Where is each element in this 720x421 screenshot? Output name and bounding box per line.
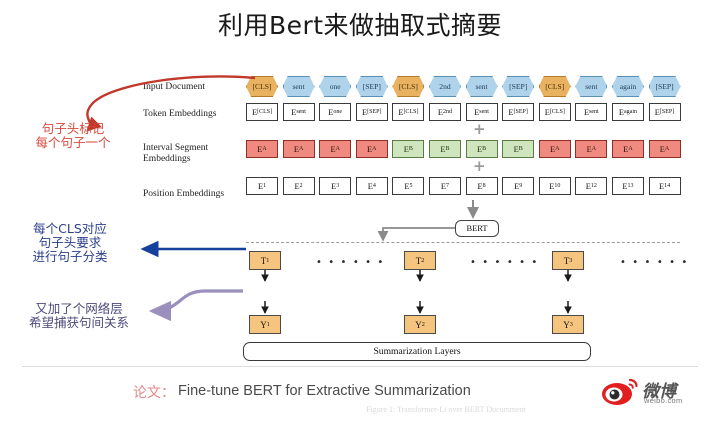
input-token-3: one xyxy=(319,76,351,97)
y-node-2: Y2 xyxy=(404,315,436,334)
annotation-red-line-2: 每个句子一个 xyxy=(8,136,138,150)
posemb-cell-8-sub: 9 xyxy=(519,183,522,189)
segemb-cell-8: EB xyxy=(502,140,534,158)
tokemb-cell-2-sub: sent xyxy=(296,109,306,115)
segemb-cell-10: EA xyxy=(575,140,607,158)
posemb-cell-7-sub: 8 xyxy=(483,183,486,189)
segemb-cell-4: EA xyxy=(356,140,388,158)
segemb-cell-8-sub: B xyxy=(519,146,523,152)
segemb-cell-10-sub: A xyxy=(592,146,596,152)
slide-root: 利用Bert来做抽取式摘要 Input Document Token Embed… xyxy=(0,0,720,421)
input-token-8: [SEP] xyxy=(502,76,534,97)
posemb-cell-1-sub: 1 xyxy=(263,183,266,189)
input-token-6: 2nd xyxy=(429,76,461,97)
tokemb-cell-7-sub: sent xyxy=(479,109,489,115)
posemb-cell-12-sub: 14 xyxy=(664,183,670,189)
segemb-cell-12: EA xyxy=(649,140,681,158)
interval-segment-line-2: Embeddings xyxy=(143,154,191,164)
row-label-position-embeddings: Position Embeddings xyxy=(143,189,224,200)
tokemb-cell-4-sub: [SEP] xyxy=(367,109,381,115)
segemb-cell-2: EA xyxy=(283,140,315,158)
segemb-cell-9-sub: A xyxy=(555,146,559,152)
tokemb-cell-6-sub: 2nd xyxy=(443,109,452,115)
input-token-4: [SEP] xyxy=(356,76,388,97)
segemb-cell-5-sub: B xyxy=(409,146,413,152)
annotation-purple: 又加了个网络层 希望捕获句间关系 xyxy=(4,302,154,330)
input-token-row: [CLS]sentone[SEP][CLS]2ndsent[SEP][CLS]s… xyxy=(246,76,681,97)
posemb-cell-2: E2 xyxy=(283,177,315,195)
input-token-7: sent xyxy=(466,76,498,97)
tokemb-cell-9-sub: [CLS] xyxy=(550,109,565,115)
ellipsis-1: • • • • • • xyxy=(316,258,385,268)
row-label-input-document: Input Document xyxy=(143,82,205,93)
bert-output-divider xyxy=(246,242,680,243)
t-node-1-sub: 1 xyxy=(266,257,269,264)
tokemb-cell-7: Esent xyxy=(466,103,498,121)
posemb-cell-10-sub: 12 xyxy=(591,183,597,189)
tokemb-cell-9: E[CLS] xyxy=(539,103,571,121)
tokemb-cell-11-sub: again xyxy=(624,109,637,115)
ellipsis-3: • • • • • • xyxy=(620,258,689,268)
segemb-cell-5: EB xyxy=(392,140,424,158)
y-node-3: Y3 xyxy=(552,315,584,334)
posemb-cell-8: E9 xyxy=(502,177,534,195)
posemb-cell-2-sub: 2 xyxy=(300,183,303,189)
tokemb-cell-1: E[CLS] xyxy=(246,103,278,121)
position-embedding-row: E1E2E3E4E5E7E8E9E10E12E13E14 xyxy=(246,177,681,195)
tokemb-cell-8: E[SEP] xyxy=(502,103,534,121)
segemb-cell-7-sub: B xyxy=(482,146,486,152)
interval-segment-line-1: Interval Segment xyxy=(143,143,208,153)
posemb-cell-3-sub: 3 xyxy=(336,183,339,189)
tokemb-cell-12-sub: [SEP] xyxy=(660,109,674,115)
annotation-purple-line-2: 希望捕获句间关系 xyxy=(4,316,154,330)
input-token-11: again xyxy=(612,76,644,97)
t-node-3: T3 xyxy=(552,251,584,270)
tokemb-cell-4: E[SEP] xyxy=(356,103,388,121)
posemb-cell-5: E5 xyxy=(392,177,424,195)
tokemb-cell-3-sub: one xyxy=(333,109,342,115)
weibo-domain: weibo.com xyxy=(644,396,683,405)
posemb-cell-3: E3 xyxy=(319,177,351,195)
segemb-cell-9: EA xyxy=(539,140,571,158)
annotation-blue-line-2: 句子头要求 xyxy=(4,236,136,250)
posemb-cell-11-sub: 13 xyxy=(628,183,634,189)
segemb-cell-4-sub: A xyxy=(372,146,376,152)
y-node-3-sub: 3 xyxy=(570,321,573,328)
posemb-cell-6: E7 xyxy=(429,177,461,195)
posemb-cell-5-sub: 5 xyxy=(409,183,412,189)
tokemb-cell-6: E2nd xyxy=(429,103,461,121)
annotation-red-line-1: 句子头标记 xyxy=(8,122,138,136)
annotation-blue: 每个CLS对应 句子头要求 进行句子分类 xyxy=(4,222,136,264)
footer-divider xyxy=(22,366,698,367)
annotation-red: 句子头标记 每个句子一个 xyxy=(8,122,138,150)
tokemb-cell-5: E[CLS] xyxy=(392,103,424,121)
input-token-9: [CLS] xyxy=(539,76,571,97)
segemb-cell-11: EA xyxy=(612,140,644,158)
posemb-cell-4-sub: 4 xyxy=(373,183,376,189)
posemb-cell-9-sub: 10 xyxy=(554,183,560,189)
y-node-1-sub: 1 xyxy=(267,321,270,328)
input-token-1: [CLS] xyxy=(246,76,278,97)
footer: 论文： Fine-tune BERT for Extractive Summar… xyxy=(0,382,720,412)
page-title: 利用Bert来做抽取式摘要 xyxy=(0,6,720,42)
posemb-cell-7: E8 xyxy=(466,177,498,195)
bert-box: BERT xyxy=(455,220,499,237)
input-token-2: sent xyxy=(283,76,315,97)
segemb-cell-6-sub: B xyxy=(446,146,450,152)
tokemb-cell-10: Esent xyxy=(575,103,607,121)
segemb-cell-1: EA xyxy=(246,140,278,158)
plus-sign-2: + xyxy=(473,159,486,174)
input-token-10: sent xyxy=(575,76,607,97)
tokemb-cell-8-sub: [SEP] xyxy=(514,109,528,115)
input-token-5: [CLS] xyxy=(392,76,424,97)
segemb-cell-12-sub: A xyxy=(665,146,669,152)
ellipsis-2: • • • • • • xyxy=(470,258,539,268)
segemb-cell-3-sub: A xyxy=(336,146,340,152)
t-node-1: T1 xyxy=(249,251,281,270)
t-node-2-sub: 2 xyxy=(421,257,424,264)
tokemb-cell-10-sub: sent xyxy=(589,109,599,115)
y-node-2-sub: 2 xyxy=(422,321,425,328)
segemb-cell-7: EB xyxy=(466,140,498,158)
summarization-layers-box: Summarization Layers xyxy=(243,342,591,361)
tokemb-cell-2: Esent xyxy=(283,103,315,121)
posemb-cell-4: E4 xyxy=(356,177,388,195)
segemb-cell-11-sub: A xyxy=(628,146,632,152)
tokemb-cell-1-sub: [CLS] xyxy=(257,109,272,115)
tokemb-cell-11: Eagain xyxy=(612,103,644,121)
token-embedding-row: E[CLS]EsentEoneE[SEP]E[CLS]E2ndEsentE[SE… xyxy=(246,103,681,121)
posemb-cell-11: E13 xyxy=(612,177,644,195)
posemb-cell-6-sub: 7 xyxy=(446,183,449,189)
plus-sign-1: + xyxy=(473,122,486,137)
segemb-cell-1-sub: A xyxy=(262,146,266,152)
input-token-12: [SEP] xyxy=(649,76,681,97)
tokemb-cell-5-sub: [CLS] xyxy=(403,109,418,115)
segemb-cell-2-sub: A xyxy=(299,146,303,152)
paper-title: Fine-tune BERT for Extractive Summarizat… xyxy=(178,383,471,399)
t-node-2: T2 xyxy=(404,251,436,270)
segemb-cell-3: EA xyxy=(319,140,351,158)
weibo-eye-icon xyxy=(600,376,640,408)
t-node-3-sub: 3 xyxy=(569,257,572,264)
segemb-cell-6: EB xyxy=(429,140,461,158)
paper-label: 论文： xyxy=(133,382,175,402)
posemb-cell-9: E10 xyxy=(539,177,571,195)
row-label-interval-segment-embeddings: Interval Segment Embeddings xyxy=(143,143,208,165)
weibo-logo: 微博 weibo.com xyxy=(600,376,712,412)
tokemb-cell-3: Eone xyxy=(319,103,351,121)
posemb-cell-1: E1 xyxy=(246,177,278,195)
annotation-blue-line-1: 每个CLS对应 xyxy=(4,222,136,236)
segment-embedding-row: EAEAEAEAEBEBEBEBEAEAEAEA xyxy=(246,140,681,158)
row-label-token-embeddings: Token Embeddings xyxy=(143,109,216,120)
posemb-cell-12: E14 xyxy=(649,177,681,195)
y-node-1: Y1 xyxy=(249,315,281,334)
annotation-blue-line-3: 进行句子分类 xyxy=(4,250,136,264)
posemb-cell-10: E12 xyxy=(575,177,607,195)
annotation-purple-line-1: 又加了个网络层 xyxy=(4,302,154,316)
tokemb-cell-12: E[SEP] xyxy=(649,103,681,121)
